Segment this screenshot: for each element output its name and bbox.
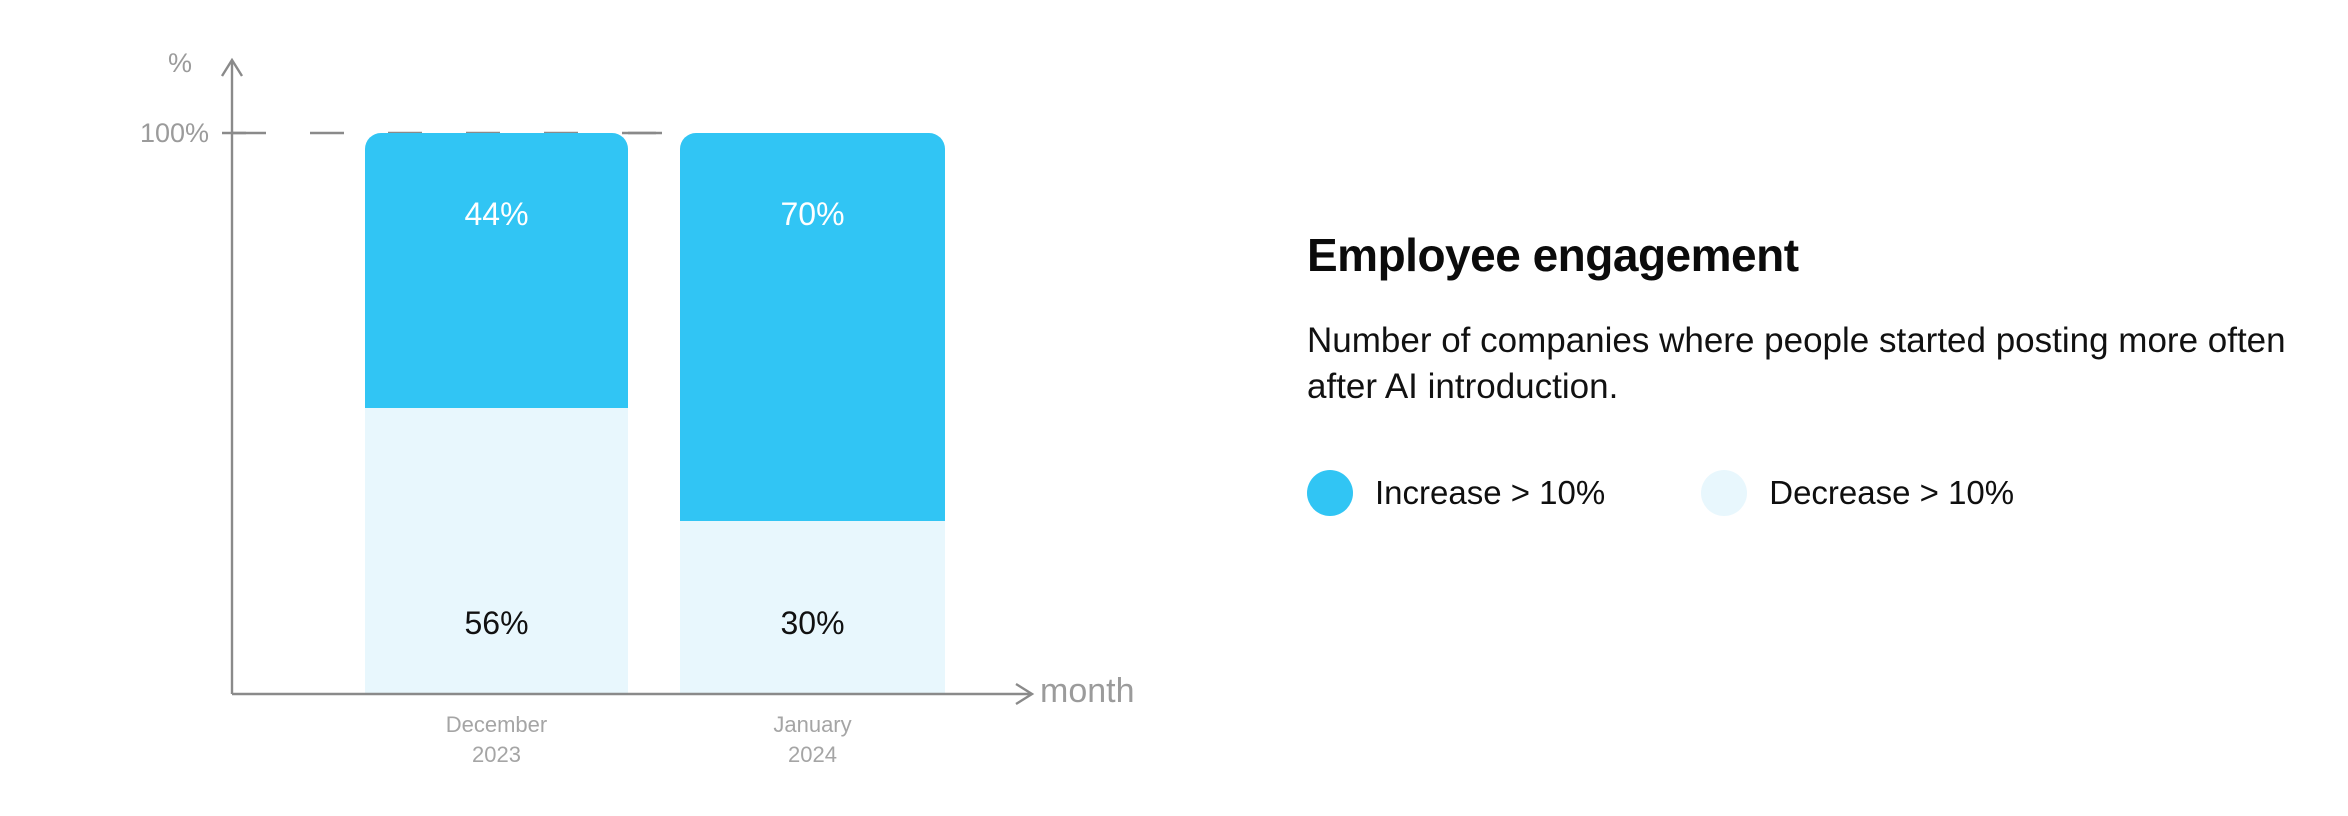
legend-label-decrease: Decrease > 10% [1769, 474, 2014, 512]
legend-label-increase: Increase > 10% [1375, 474, 1605, 512]
category-label-january: January 2024 [680, 710, 945, 769]
legend-swatch-decrease-icon [1701, 470, 1747, 516]
bar-december-increase [365, 133, 628, 408]
y-axis-tick-100-label: 100% [140, 118, 209, 149]
chart-legend: Increase > 10% Decrease > 10% [1307, 470, 2014, 516]
legend-swatch-increase-icon [1307, 470, 1353, 516]
bar-december-decrease [365, 408, 628, 694]
bar-january-increase-label: 70% [680, 196, 945, 233]
bar-january-decrease-label: 30% [680, 605, 945, 642]
category-label-december-month: December [365, 710, 628, 740]
bar-december-decrease-label: 56% [365, 605, 628, 642]
category-label-december-year: 2023 [365, 740, 628, 770]
chart-infographic: % 100% month 44% 56% 70% 30% December 20… [0, 0, 2348, 816]
category-label-january-month: January [680, 710, 945, 740]
panel-title: Employee engagement [1307, 228, 1799, 282]
legend-item-decrease[interactable]: Decrease > 10% [1701, 470, 2014, 516]
bar-january-increase [680, 133, 945, 521]
bar-december-increase-label: 44% [365, 196, 628, 233]
panel-description: Number of companies where people started… [1307, 318, 2317, 409]
legend-item-increase[interactable]: Increase > 10% [1307, 470, 1605, 516]
y-axis-unit-label: % [168, 48, 192, 79]
x-axis-title-label: month [1040, 672, 1135, 711]
category-label-january-year: 2024 [680, 740, 945, 770]
info-panel: Employee engagement Number of companies … [1307, 0, 2348, 816]
stacked-bar-chart: % 100% month 44% 56% 70% 30% December 20… [0, 0, 1220, 816]
category-label-december: December 2023 [365, 710, 628, 769]
